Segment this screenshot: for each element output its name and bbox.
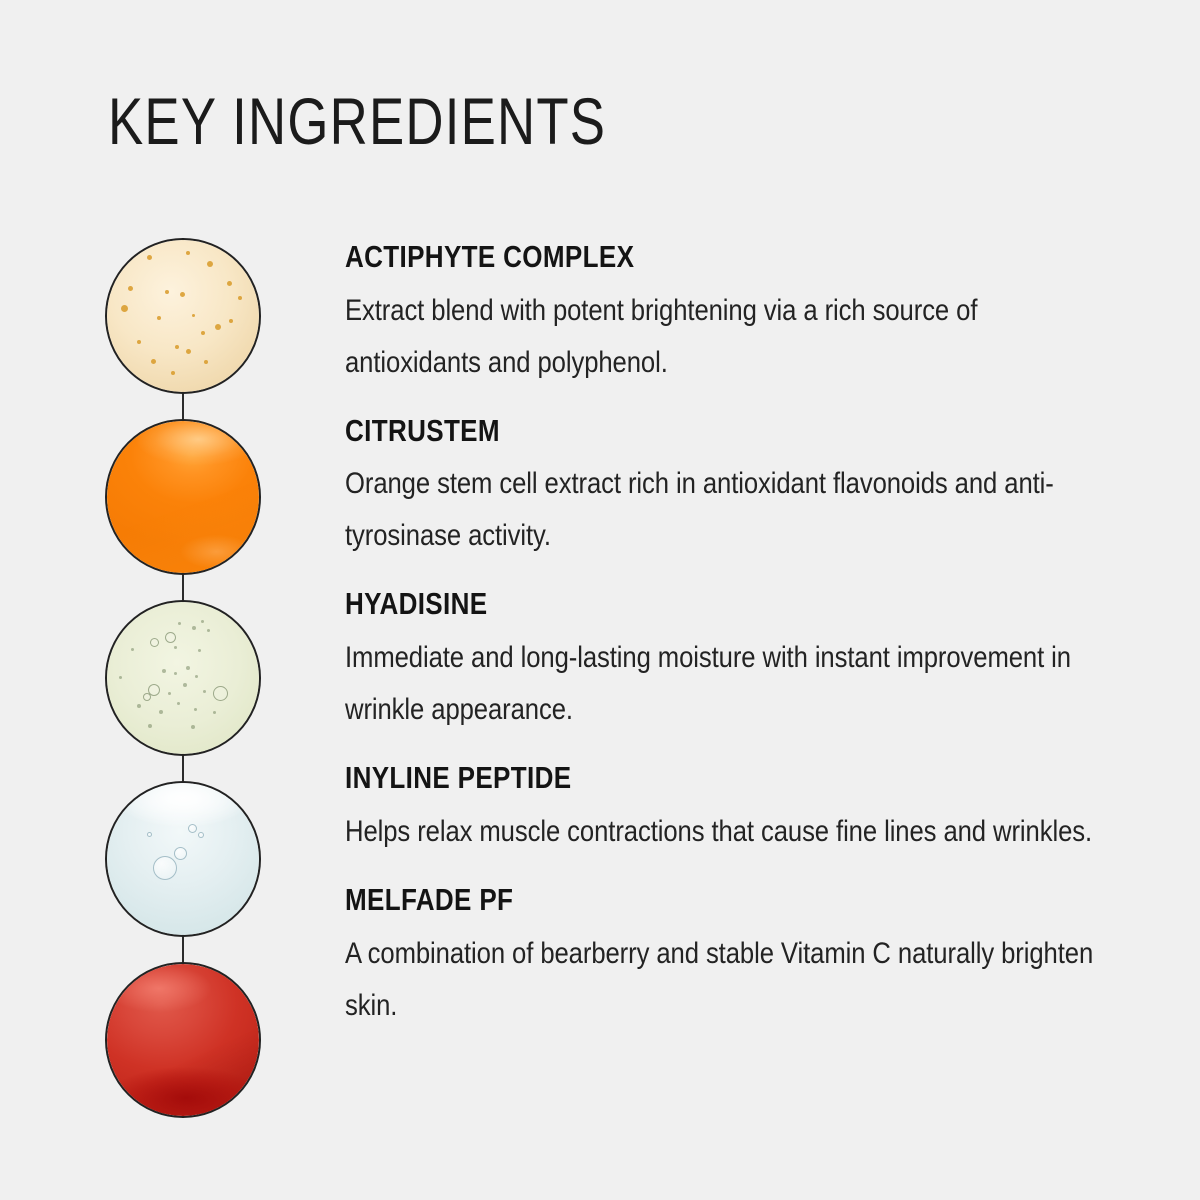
- swatch-fill: [107, 964, 259, 1116]
- ingredient-name: MELFADE PF: [345, 883, 983, 918]
- swatch-fill: [107, 421, 259, 573]
- ingredient-description: Orange stem cell extract rich in antioxi…: [345, 458, 1112, 562]
- ingredient-name: HYADISINE: [345, 587, 983, 622]
- swatch-fill: [107, 240, 259, 392]
- swatch-fill: [107, 602, 259, 754]
- ingredient-name: ACTIPHYTE COMPLEX: [345, 240, 983, 275]
- ingredient-name: INYLINE PEPTIDE: [345, 761, 983, 796]
- inyline-peptide-swatch-icon: [105, 781, 261, 937]
- ingredient-swatch-rail: [105, 238, 261, 1118]
- page-title: KEY INGREDIENTS: [108, 88, 606, 154]
- ingredient-description: Immediate and long-lasting moisture with…: [345, 632, 1112, 736]
- ingredient-item-actiphyte-complex: ACTIPHYTE COMPLEX Extract blend with pot…: [345, 240, 1105, 389]
- ingredient-item-melfade-pf: MELFADE PF A combination of bearberry an…: [345, 883, 1105, 1032]
- actiphyte-swatch-icon: [105, 238, 261, 394]
- ingredient-name: CITRUSTEM: [345, 414, 983, 449]
- ingredient-description: Helps relax muscle contractions that cau…: [345, 806, 1112, 858]
- ingredient-list: ACTIPHYTE COMPLEX Extract blend with pot…: [345, 240, 1105, 1032]
- ingredient-description: A combination of bearberry and stable Vi…: [345, 928, 1112, 1032]
- hyadisine-swatch-icon: [105, 600, 261, 756]
- ingredient-item-hyadisine: HYADISINE Immediate and long-lasting moi…: [345, 587, 1105, 736]
- swatch-fill: [107, 783, 259, 935]
- ingredient-item-citrustem: CITRUSTEM Orange stem cell extract rich …: [345, 414, 1105, 563]
- ingredient-item-inyline-peptide: INYLINE PEPTIDE Helps relax muscle contr…: [345, 761, 1105, 858]
- ingredient-description: Extract blend with potent brightening vi…: [345, 285, 1112, 389]
- citrustem-swatch-icon: [105, 419, 261, 575]
- melfade-pf-swatch-icon: [105, 962, 261, 1118]
